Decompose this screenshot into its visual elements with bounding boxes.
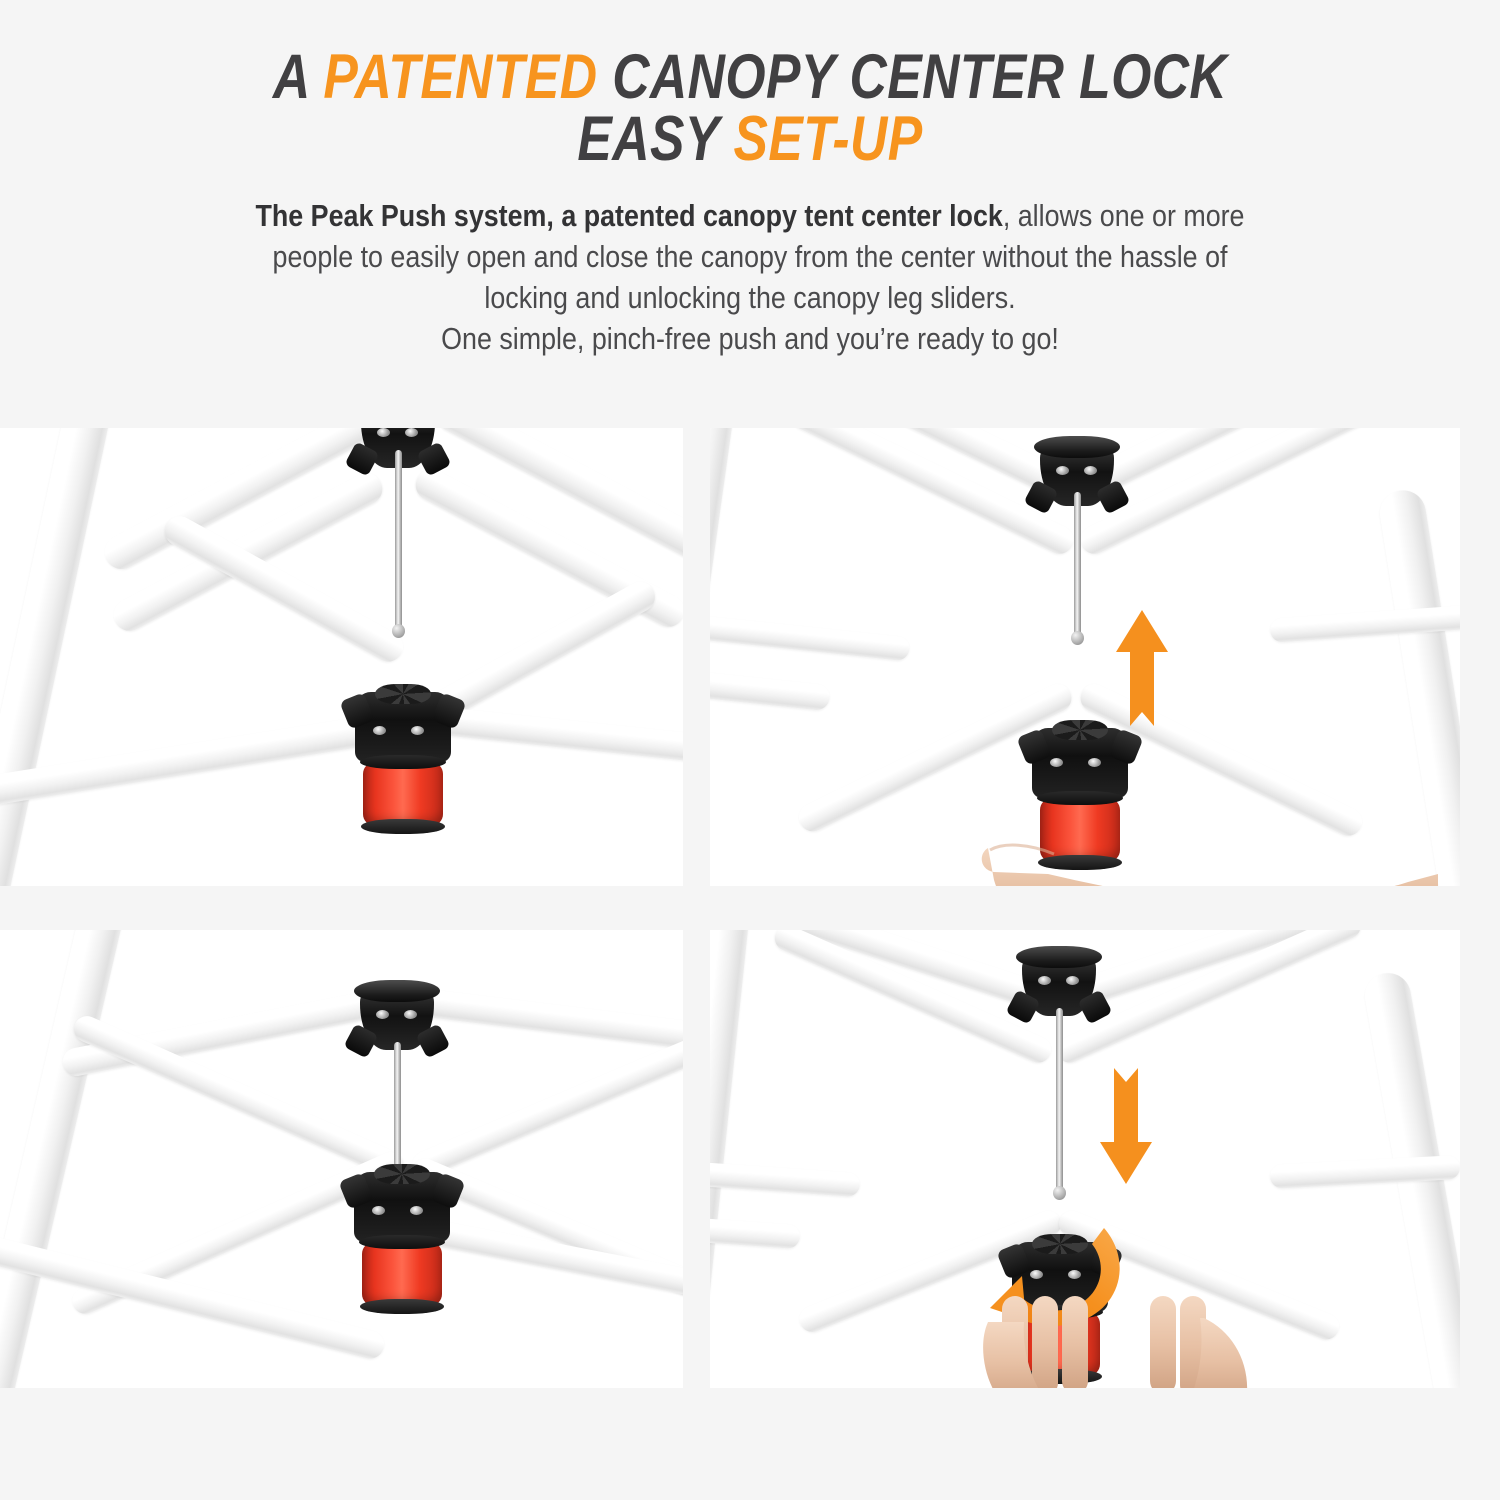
description-line-1: The Peak Push system, a patented canopy …	[90, 196, 1410, 237]
description-bold-phrase: The Peak Push system, a patented canopy …	[256, 199, 1003, 233]
peak-hub-bolt	[1038, 976, 1051, 985]
peak-hub-bolt	[405, 428, 418, 437]
slider-ear	[1016, 728, 1051, 766]
canopy-leg-pole	[0, 930, 133, 1388]
peak-hub-bolt	[376, 1010, 389, 1019]
red-collar	[362, 1242, 442, 1306]
page-subtitle: EASY SET-UP	[135, 108, 1365, 170]
subtitle-highlight-setup: SET-UP	[734, 104, 923, 174]
red-collar	[363, 762, 443, 826]
slider-bolt	[410, 1206, 423, 1215]
peak-hub-bolt	[404, 1010, 417, 1019]
peak-hub-cap	[1016, 946, 1102, 968]
peak-hub-bolt	[1066, 976, 1079, 985]
arrow-up-icon	[1114, 608, 1170, 732]
slider-bolt	[1050, 758, 1063, 767]
peak-hub-wing	[343, 1023, 378, 1058]
product-photo-grid	[0, 428, 1500, 1398]
push-rod-tip	[1053, 1186, 1066, 1200]
canopy-leg-pole	[0, 428, 115, 886]
peak-hub-cap	[354, 980, 440, 1002]
canopy-truss-x-right	[408, 1025, 683, 1182]
peak-hub-bolt	[377, 428, 390, 437]
push-rod-tip	[392, 624, 405, 638]
description-line-2: people to easily open and close the cano…	[90, 237, 1410, 278]
canopy-rail-left	[710, 610, 911, 661]
canopy-rail-left-2	[710, 667, 831, 712]
panel-canopy-frame-open-detail	[0, 428, 683, 886]
headline-part-1: A	[273, 42, 324, 112]
slider-bolt	[1088, 758, 1101, 767]
peak-hub-cap	[1034, 436, 1120, 458]
slider-star-ring	[1052, 720, 1108, 740]
slider-bolt	[373, 726, 386, 735]
black-slider-bracket	[1032, 728, 1128, 798]
canopy-rail-left	[710, 1159, 861, 1198]
canopy-rail-left-2	[710, 1215, 801, 1249]
headline-highlight-patented: PATENTED	[323, 42, 597, 112]
description-line-4: One simple, pinch-free push and you’re r…	[90, 319, 1410, 360]
peak-hub-bolt	[1056, 466, 1069, 475]
panel-canopy-frame-closed-detail	[0, 930, 683, 1388]
canopy-leg-pole	[710, 930, 752, 1311]
chrome-push-rod	[394, 1042, 401, 1182]
chrome-push-rod	[1056, 1008, 1063, 1193]
slider-bracket-with-collar	[355, 692, 451, 826]
peak-hub-wing	[415, 1023, 450, 1058]
headline-part-2: CANOPY CENTER LOCK	[597, 42, 1227, 112]
push-rod-tip	[1071, 631, 1084, 645]
slider-bolt	[372, 1206, 385, 1215]
chrome-push-rod	[1074, 492, 1081, 637]
black-peak-hub	[360, 988, 434, 1050]
description-line-1-rest: , allows one or more	[1003, 199, 1245, 233]
description-line-3: locking and unlocking the canopy leg sli…	[90, 278, 1410, 319]
peak-hub-bolt	[1084, 466, 1097, 475]
chrome-push-rod	[395, 450, 402, 630]
black-slider-bracket	[355, 692, 451, 762]
subtitle-part-1: EASY	[577, 104, 733, 174]
open-palm-hand	[978, 814, 1438, 886]
arrow-down-icon	[1098, 1062, 1154, 1186]
slider-star-ring	[374, 1164, 430, 1184]
slider-bracket-with-collar	[354, 1172, 450, 1306]
black-slider-bracket	[354, 1172, 450, 1242]
slider-bolt	[411, 726, 424, 735]
panel-hands-twisting-center-lock	[710, 930, 1460, 1388]
header: A PATENTED CANOPY CENTER LOCK EASY SET-U…	[0, 0, 1500, 360]
panel-hand-pushing-up-center-lock	[710, 428, 1460, 886]
two-gripping-hands	[978, 1296, 1278, 1388]
page-title: A PATENTED CANOPY CENTER LOCK	[135, 46, 1365, 108]
black-peak-hub	[1022, 954, 1096, 1016]
description-text: The Peak Push system, a patented canopy …	[90, 196, 1410, 360]
slider-star-ring	[375, 684, 431, 704]
